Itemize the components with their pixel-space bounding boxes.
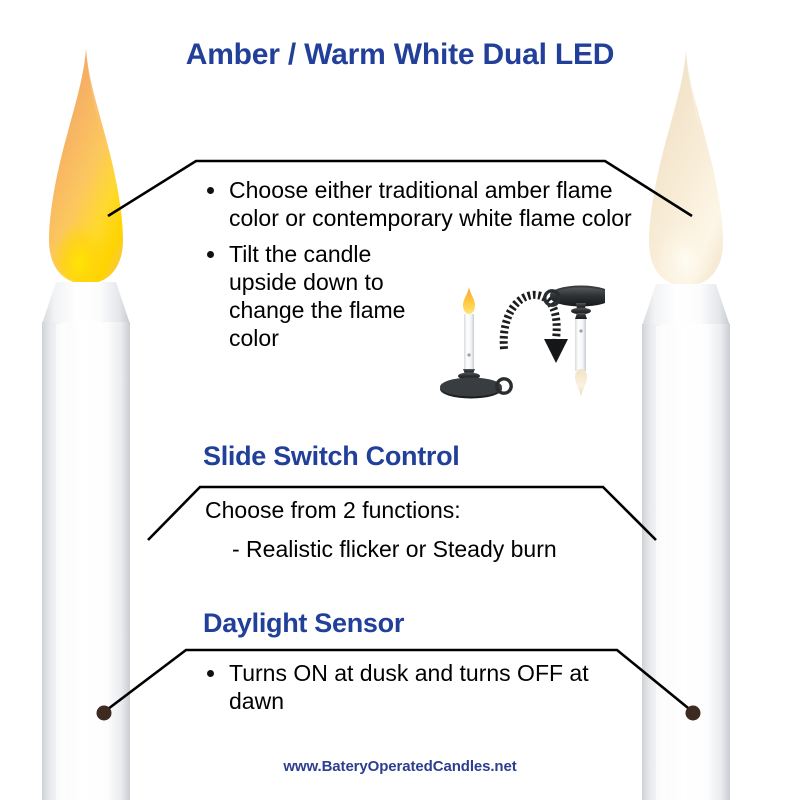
page-title: Amber / Warm White Dual LED (0, 38, 800, 72)
bullet-text: Turns ON at dusk and turns OFF at dawn (229, 660, 589, 714)
slide-switch-line-1: Choose from 2 functions: (205, 496, 461, 525)
heading-daylight-sensor: Daylight Sensor (203, 608, 404, 639)
bullet-tilt-candle: Tilt the candle upside down to change th… (203, 240, 434, 352)
bullet-dusk-dawn: Turns ON at dusk and turns OFF at dawn (203, 659, 607, 715)
infographic-canvas: Amber / Warm White Dual LED Choose eithe… (0, 0, 800, 800)
bullet-text: Tilt the candle upside down to change th… (229, 241, 405, 351)
heading-slide-switch-control: Slide Switch Control (203, 441, 460, 472)
slide-switch-line-2: - Realistic flicker or Steady burn (232, 535, 557, 564)
daylight-sensor-bullet-list: Turns ON at dusk and turns OFF at dawn (203, 659, 603, 717)
bullet-text: Choose either traditional amber flame co… (229, 177, 632, 231)
tilt-candle-illustration (425, 281, 605, 403)
content-layer: Amber / Warm White Dual LED Choose eithe… (0, 0, 800, 800)
tilt-arrow-icon (504, 295, 568, 363)
footer-website-url: www.BateryOperatedCandles.net (0, 758, 800, 775)
bullet-flame-color-choice: Choose either traditional amber flame co… (203, 176, 649, 232)
